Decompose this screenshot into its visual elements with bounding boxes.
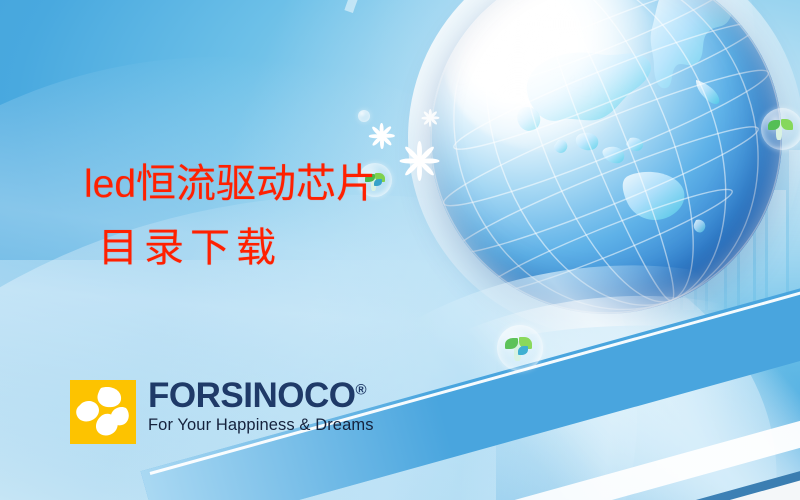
page-title-cjk: 恒流驱动芯片 [136, 161, 376, 206]
forsinoco-flower-mark-icon [70, 380, 136, 444]
bubble-sprout-right [761, 108, 800, 150]
brand-name-text: FORSINOCO [148, 376, 355, 415]
brand-name: FORSINOCO® [148, 378, 366, 413]
flower-mark-svg [70, 380, 136, 444]
brand-logo: FORSINOCO® For Your Happiness & Dreams [70, 380, 374, 444]
banner-canvas: led恒流驱动芯片 目录下载 FORSINOCO® For Your Happi… [0, 0, 800, 500]
page-title-line-1: led恒流驱动芯片 [84, 164, 376, 204]
brand-tagline: For Your Happiness & Dreams [148, 416, 374, 435]
flower-large-icon [398, 140, 440, 182]
bubble-tiny-icon [358, 110, 370, 122]
flower-small-icon [420, 108, 440, 128]
page-title-line-2: 目录下载 [98, 228, 376, 268]
bubble-sprout-center [497, 325, 543, 371]
brand-wordmark: FORSINOCO® For Your Happiness & Dreams [148, 378, 374, 435]
registered-trademark-icon: ® [355, 381, 366, 398]
page-title: led恒流驱动芯片 目录下载 [84, 164, 376, 268]
page-title-latin: led [84, 163, 136, 206]
flower-medium-icon [368, 122, 396, 150]
